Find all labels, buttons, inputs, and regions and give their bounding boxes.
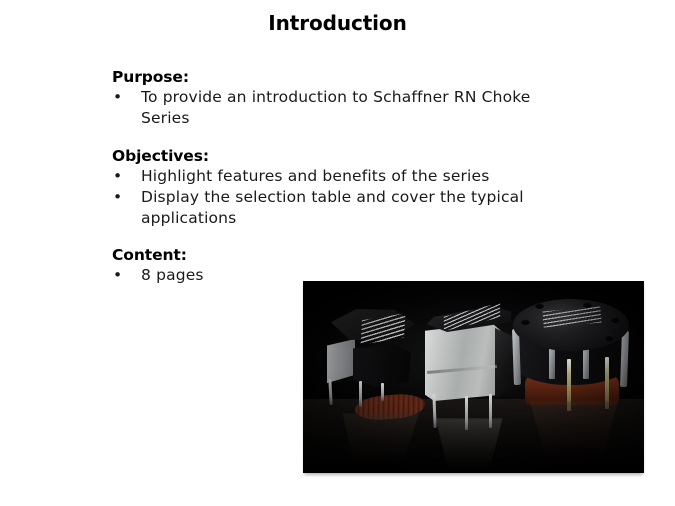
choke-vent-hole	[611, 317, 620, 323]
list-item: • Display the selection table and cover …	[112, 187, 582, 229]
silver-rect-choke	[421, 306, 517, 424]
product-photo	[303, 281, 644, 473]
section-objectives: Objectives: • Highlight features and ben…	[112, 147, 582, 229]
section-content: Content: • 8 pages	[112, 246, 582, 286]
list-item-label: Display the selection table and cover th…	[141, 188, 524, 227]
choke-bracket	[620, 331, 629, 387]
spacer	[112, 229, 582, 246]
bullet-icon: •	[113, 87, 122, 108]
section-heading-objectives: Objectives:	[112, 147, 582, 166]
choke-vent-hole	[521, 319, 530, 325]
section-purpose: Purpose: • To provide an introduction to…	[112, 68, 582, 129]
choke-body	[425, 323, 501, 401]
page-title: Introduction	[0, 11, 675, 35]
black-hex-choke	[325, 309, 423, 409]
slide: Introduction Purpose: • To provide an in…	[0, 0, 675, 506]
list-item: • Highlight features and benefits of the…	[112, 166, 582, 187]
choke-vent-hole	[535, 303, 544, 309]
choke-vent-hole	[605, 335, 614, 341]
bullet-list-purpose: • To provide an introduction to Schaffne…	[112, 87, 582, 129]
spacer	[112, 129, 582, 147]
photo-background	[303, 281, 644, 473]
choke-pin	[328, 379, 332, 405]
list-item: • To provide an introduction to Schaffne…	[112, 87, 582, 129]
choke-bracket	[327, 339, 355, 385]
list-item-label: Highlight features and benefits of the s…	[141, 167, 489, 185]
choke-pin	[381, 383, 384, 401]
list-item-label: 8 pages	[141, 266, 204, 284]
round-black-choke	[509, 299, 633, 421]
choke-body	[353, 345, 411, 387]
section-heading-content: Content:	[112, 246, 582, 265]
slide-content: Purpose: • To provide an introduction to…	[112, 68, 582, 286]
choke-pin	[359, 381, 362, 407]
section-heading-purpose: Purpose:	[112, 68, 582, 87]
bullet-list-objectives: • Highlight features and benefits of the…	[112, 166, 582, 229]
list-item-label: To provide an introduction to Schaffner …	[141, 88, 530, 127]
bullet-icon: •	[113, 166, 122, 187]
bullet-icon: •	[113, 265, 122, 286]
bullet-icon: •	[113, 187, 122, 208]
